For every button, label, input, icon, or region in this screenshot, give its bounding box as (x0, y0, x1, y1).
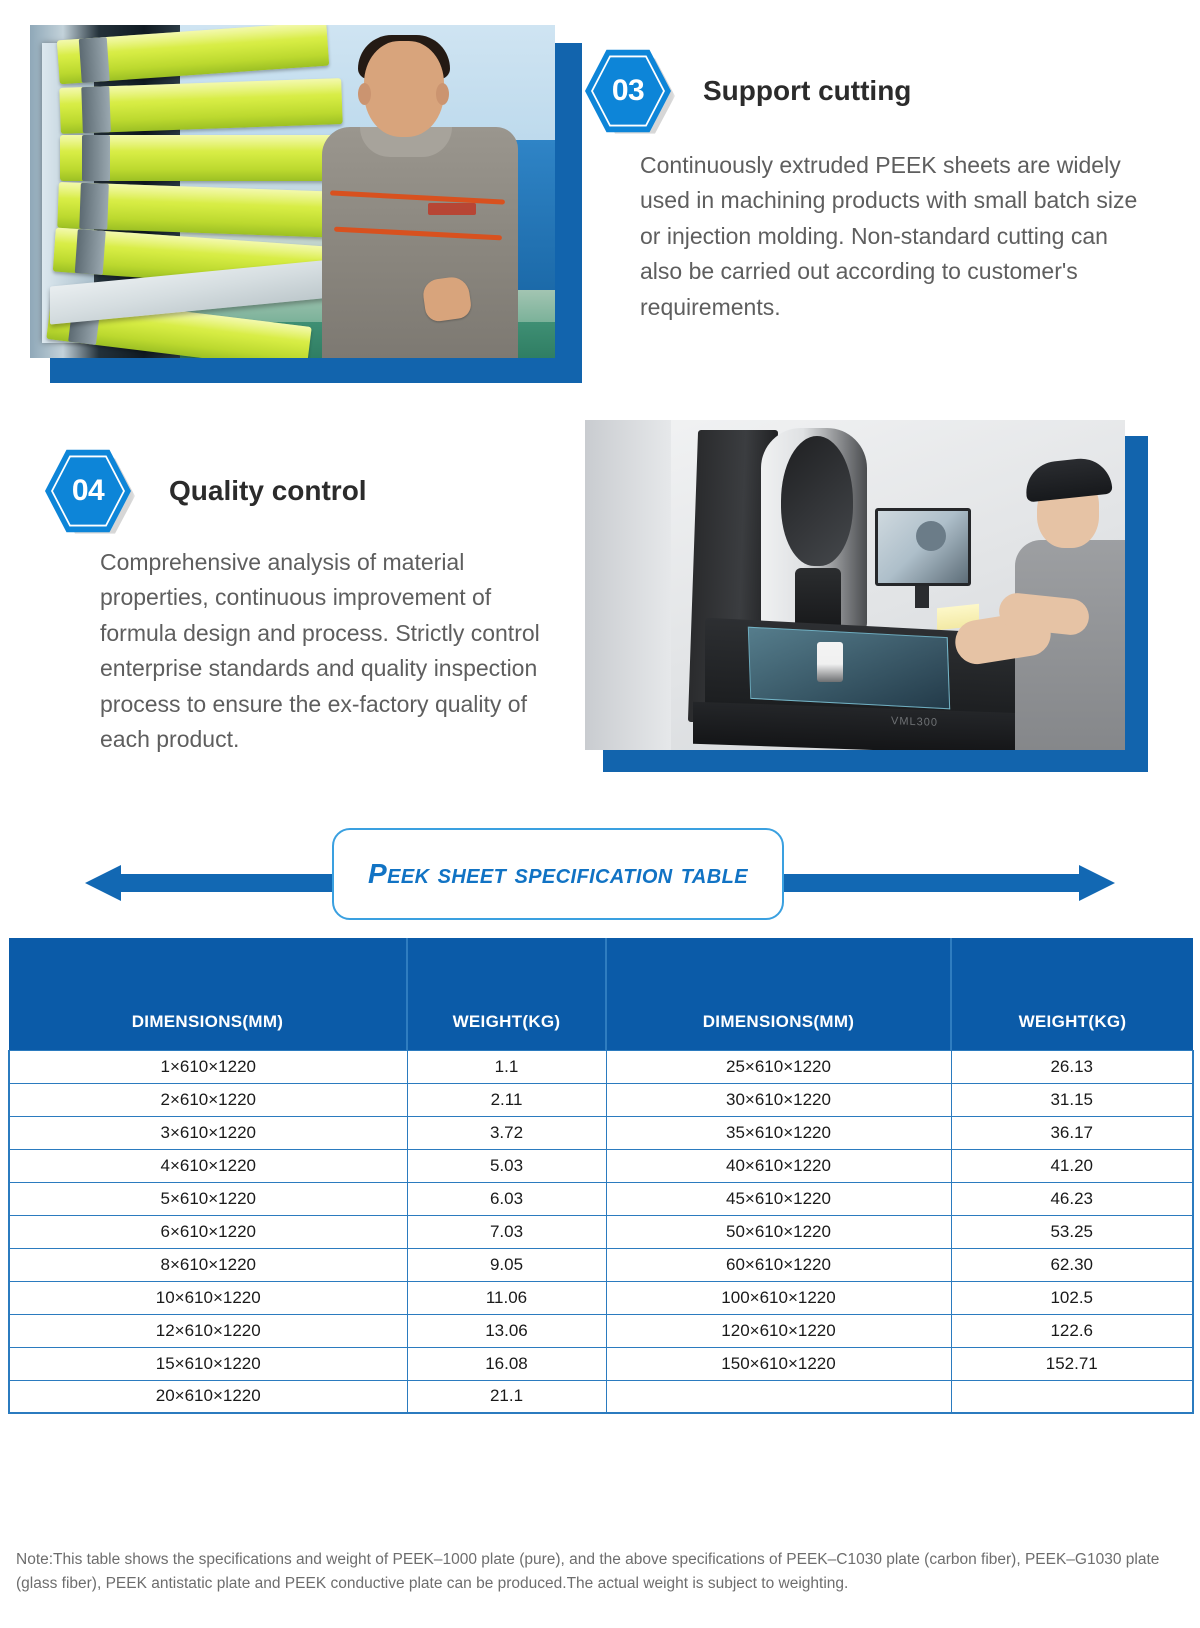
cell-dimensions: 5×610×1220 (9, 1182, 407, 1215)
table-row: 6×610×12207.0350×610×122053.25 (9, 1215, 1193, 1248)
cell-dimensions: 45×610×1220 (606, 1182, 951, 1215)
cell-dimensions: 4×610×1220 (9, 1149, 407, 1182)
machine-lens-housing (781, 436, 853, 566)
measurement-monitor (875, 508, 971, 586)
cell-dimensions: 120×610×1220 (606, 1314, 951, 1347)
table-row: 10×610×122011.06100×610×1220102.5 (9, 1281, 1193, 1314)
section-title: Support cutting (703, 75, 911, 107)
machine-model-label: VML300 (891, 715, 938, 729)
table-row: 4×610×12205.0340×610×122041.20 (9, 1149, 1193, 1182)
cell-weight: 2.11 (407, 1083, 606, 1116)
cell-weight: 21.1 (407, 1380, 606, 1413)
cell-weight: 6.03 (407, 1182, 606, 1215)
cell-dimensions: 12×610×1220 (9, 1314, 407, 1347)
table-row: 2×610×12202.1130×610×122031.15 (9, 1083, 1193, 1116)
sample-specimen (817, 642, 843, 682)
cell-dimensions: 30×610×1220 (606, 1083, 951, 1116)
support-cutting-photo (30, 25, 555, 358)
table-row: 5×610×12206.0345×610×122046.23 (9, 1182, 1193, 1215)
cell-weight: 16.08 (407, 1347, 606, 1380)
table-row: 20×610×122021.1 (9, 1380, 1193, 1413)
cell-weight: 41.20 (951, 1149, 1193, 1182)
cell-weight: 13.06 (407, 1314, 606, 1347)
cell-weight: 36.17 (951, 1116, 1193, 1149)
section-support-cutting: 03 Support cutting Continuously extruded… (0, 0, 1200, 400)
section-number: 03 (612, 76, 644, 106)
peek-slab (59, 78, 342, 134)
cell-weight: 3.72 (407, 1116, 606, 1149)
hexagon-number-badge-04: 04 (45, 448, 131, 534)
cell-weight: 46.23 (951, 1182, 1193, 1215)
spec-table-title: Peek sheet specification table (368, 858, 748, 890)
cell-weight: 9.05 (407, 1248, 606, 1281)
cell-weight: 122.6 (951, 1314, 1193, 1347)
cell-dimensions: 15×610×1220 (9, 1347, 407, 1380)
section-03-body-text: Continuously extruded PEEK sheets are wi… (640, 148, 1152, 325)
column-header-dimensions-2: DIMENSIONS(MM) (606, 938, 951, 1050)
worker-figure (316, 35, 521, 358)
cell-weight (951, 1380, 1193, 1413)
monitor-screen (878, 511, 968, 583)
glass-measuring-plate (748, 627, 950, 710)
cell-dimensions: 60×610×1220 (606, 1248, 951, 1281)
spec-table-title-box: Peek sheet specification table (332, 828, 784, 920)
cell-dimensions: 1×610×1220 (9, 1050, 407, 1083)
cell-weight: 11.06 (407, 1281, 606, 1314)
cell-dimensions: 3×610×1220 (9, 1116, 407, 1149)
column-header-weight-1: WEIGHT(KG) (407, 938, 606, 1050)
cell-weight: 7.03 (407, 1215, 606, 1248)
section-03-heading: 03 Support cutting (585, 48, 911, 134)
hexagon-number-badge-03: 03 (585, 48, 671, 134)
cell-dimensions: 6×610×1220 (9, 1215, 407, 1248)
left-arrow-icon (85, 865, 121, 901)
cell-dimensions: 100×610×1220 (606, 1281, 951, 1314)
section-04-heading: 04 Quality control (45, 448, 367, 534)
section-number: 04 (72, 476, 104, 506)
table-row: 12×610×122013.06120×610×1220122.6 (9, 1314, 1193, 1347)
support-cutting-photo-wrapper (30, 25, 575, 375)
cell-dimensions: 20×610×1220 (9, 1380, 407, 1413)
cell-dimensions: 25×610×1220 (606, 1050, 951, 1083)
cell-dimensions: 2×610×1220 (9, 1083, 407, 1116)
table-row: 15×610×122016.08150×610×1220152.71 (9, 1347, 1193, 1380)
section-04-body-text: Comprehensive analysis of material prope… (100, 545, 570, 757)
quality-control-photo: VML300 (585, 420, 1125, 750)
table-header-row: DIMENSIONS(MM) WEIGHT(KG) DIMENSIONS(MM)… (9, 938, 1193, 1050)
table-row: 3×610×12203.7235×610×122036.17 (9, 1116, 1193, 1149)
column-header-weight-2: WEIGHT(KG) (951, 938, 1193, 1050)
cell-dimensions: 150×610×1220 (606, 1347, 951, 1380)
cell-dimensions (606, 1380, 951, 1413)
section-title: Quality control (169, 475, 367, 507)
quality-control-photo-wrapper: VML300 (585, 420, 1145, 770)
cell-weight: 26.13 (951, 1050, 1193, 1083)
cell-weight: 102.5 (951, 1281, 1193, 1314)
cell-dimensions: 35×610×1220 (606, 1116, 951, 1149)
cell-dimensions: 10×610×1220 (9, 1281, 407, 1314)
wall (585, 420, 671, 750)
cell-weight: 152.71 (951, 1347, 1193, 1380)
cell-weight: 31.15 (951, 1083, 1193, 1116)
cell-dimensions: 40×610×1220 (606, 1149, 951, 1182)
cell-weight: 5.03 (407, 1149, 606, 1182)
table-row: 8×610×12209.0560×610×122062.30 (9, 1248, 1193, 1281)
cell-dimensions: 8×610×1220 (9, 1248, 407, 1281)
right-arrow-icon (1079, 865, 1115, 901)
cell-weight: 1.1 (407, 1050, 606, 1083)
cell-dimensions: 50×610×1220 (606, 1215, 951, 1248)
column-header-dimensions-1: DIMENSIONS(MM) (9, 938, 407, 1050)
table-note: Note:This table shows the specifications… (16, 1548, 1184, 1596)
table-row: 1×610×12201.125×610×122026.13 (9, 1050, 1193, 1083)
cell-weight: 53.25 (951, 1215, 1193, 1248)
cell-weight: 62.30 (951, 1248, 1193, 1281)
table-body: 1×610×12201.125×610×122026.132×610×12202… (9, 1050, 1193, 1413)
monitor-stand (915, 586, 929, 608)
peek-specification-table: DIMENSIONS(MM) WEIGHT(KG) DIMENSIONS(MM)… (8, 938, 1194, 1414)
peek-slab (60, 135, 350, 181)
